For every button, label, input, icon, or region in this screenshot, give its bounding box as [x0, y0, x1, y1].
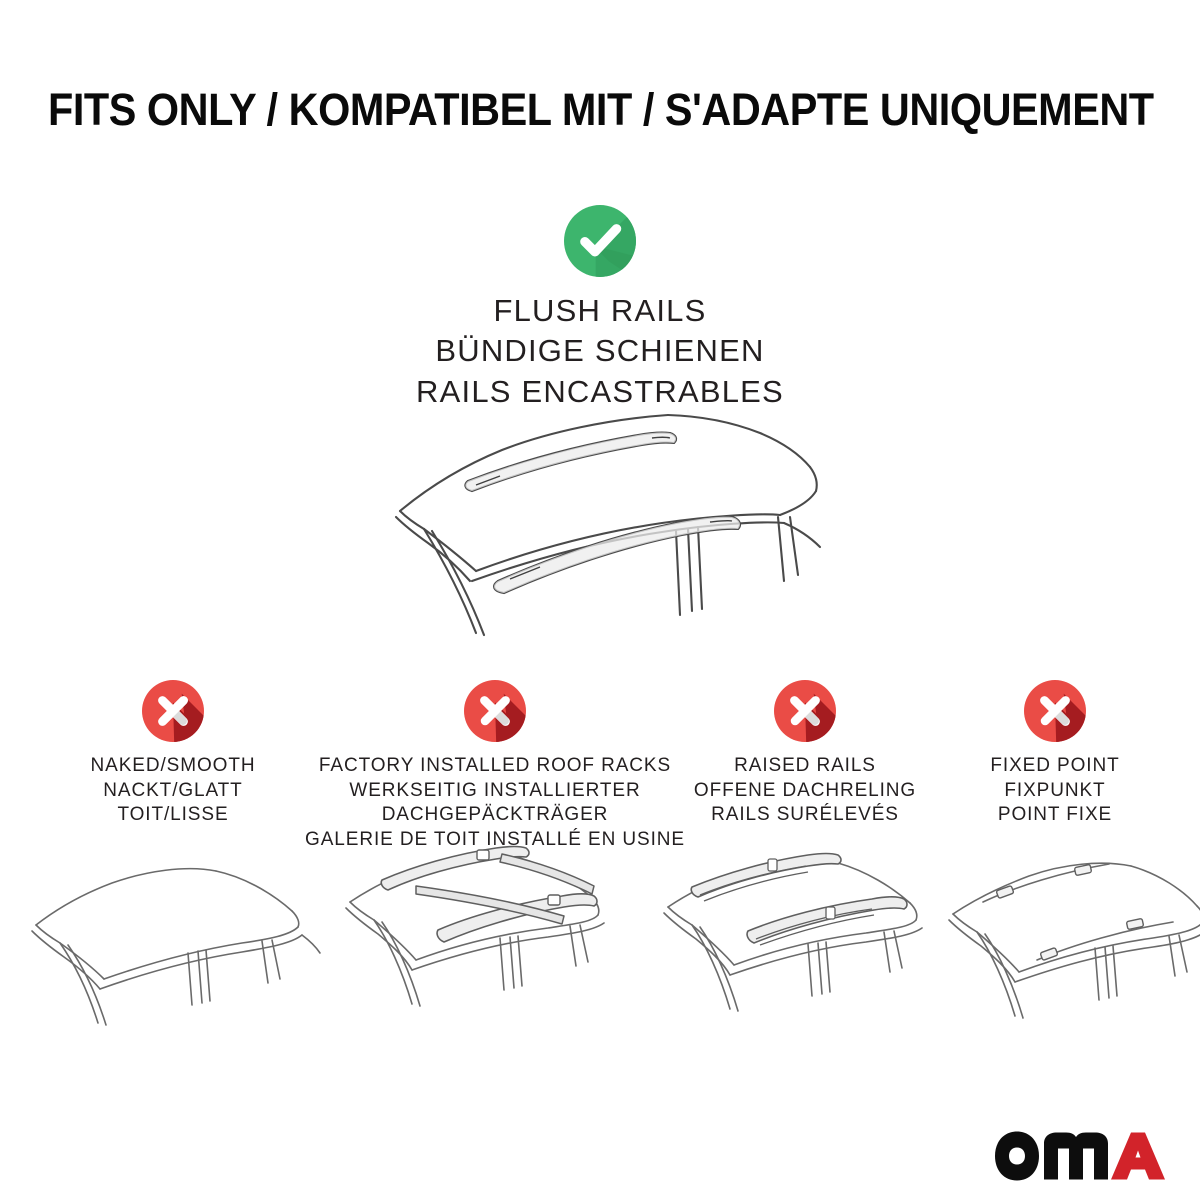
x-circle-icon — [464, 680, 526, 742]
label-line: DACHGEPÄCKTRÄGER — [305, 803, 685, 828]
car-roof-flush-rails-illustration — [380, 405, 840, 640]
label-line: OFFENE DACHRELING — [694, 779, 916, 804]
compatible-label: FLUSH RAILS BÜNDIGE SCHIENEN RAILS ENCAS… — [416, 291, 784, 412]
car-roof-factory-roof-rack-illustration — [320, 840, 650, 1035]
x-circle-icon — [1024, 680, 1086, 742]
label-line: FACTORY INSTALLED ROOF RACKS — [305, 754, 685, 779]
x-circle-icon — [774, 680, 836, 742]
label-line: RAILS SURÉLEVÉS — [694, 803, 916, 828]
incompatible-label: FACTORY INSTALLED ROOF RACKS WERKSEITIG … — [305, 754, 685, 853]
incompatible-item-factory-roof-rack: FACTORY INSTALLED ROOF RACKS WERKSEITIG … — [300, 680, 690, 853]
page-title: FITS ONLY / KOMPATIBEL MIT / S'ADAPTE UN… — [48, 84, 1152, 136]
brand-logo-mark — [995, 1128, 1165, 1184]
label-line: RAISED RAILS — [694, 754, 916, 779]
compatible-line-de: BÜNDIGE SCHIENEN — [416, 331, 784, 371]
check-circle-icon — [564, 205, 636, 277]
label-line: FIXED POINT — [990, 754, 1119, 779]
omac-logo — [995, 1128, 1165, 1184]
incompatible-label: FIXED POINT FIXPUNKT POINT FIXE — [990, 754, 1119, 828]
incompatible-label: NAKED/SMOOTH NACKT/GLATT TOIT/LISSE — [91, 754, 256, 828]
car-roof-naked-smooth-illustration — [20, 855, 320, 1040]
car-roof-fixed-point-illustration — [945, 848, 1200, 1033]
label-line: WERKSEITIG INSTALLIERTER — [305, 779, 685, 804]
incompatible-item-fixed-point: FIXED POINT FIXPUNKT POINT FIXE — [940, 680, 1170, 828]
label-line: POINT FIXE — [990, 803, 1119, 828]
label-line: NAKED/SMOOTH — [91, 754, 256, 779]
x-circle-icon — [142, 680, 204, 742]
compatible-section: FLUSH RAILS BÜNDIGE SCHIENEN RAILS ENCAS… — [0, 205, 1200, 412]
label-line: FIXPUNKT — [990, 779, 1119, 804]
incompatible-label: RAISED RAILS OFFENE DACHRELING RAILS SUR… — [694, 754, 916, 828]
car-roof-raised-rails-illustration — [640, 845, 960, 1035]
incompatible-item-naked-smooth: NAKED/SMOOTH NACKT/GLATT TOIT/LISSE — [42, 680, 304, 828]
compatible-line-en: FLUSH RAILS — [416, 291, 784, 331]
infographic-root: FITS ONLY / KOMPATIBEL MIT / S'ADAPTE UN… — [0, 0, 1200, 1200]
label-line: NACKT/GLATT — [91, 779, 256, 804]
incompatible-item-raised-rails: RAISED RAILS OFFENE DACHRELING RAILS SUR… — [672, 680, 938, 828]
label-line: TOIT/LISSE — [91, 803, 256, 828]
